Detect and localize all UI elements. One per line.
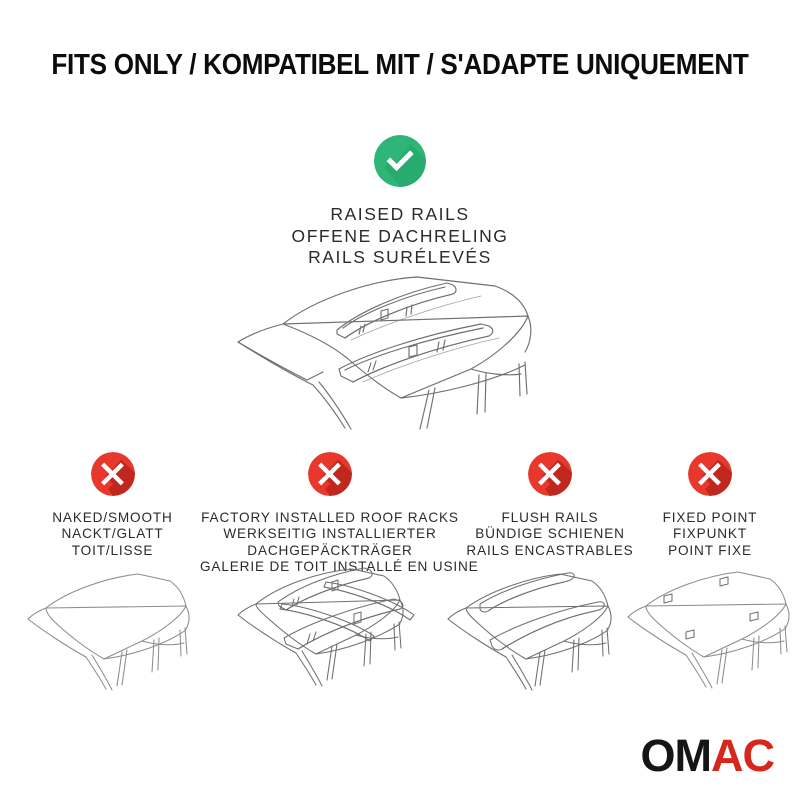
car-roof-with-raised-rails-illustration (195, 272, 615, 457)
incompatible-illustrations-row (0, 552, 800, 702)
incompatible-section: NAKED/SMOOTH NACKT/GLATT TOIT/LISSE FACT… (0, 452, 800, 562)
brand-logo-accent-part: AC (711, 730, 774, 781)
fitment-infographic-page: { "header": { "title": "FITS ONLY / KOMP… (0, 0, 800, 800)
incompatible-item-naked-smooth: NAKED/SMOOTH NACKT/GLATT TOIT/LISSE (10, 452, 215, 559)
compatible-label-fr: RAILS SURÉLEVÉS (0, 247, 800, 269)
page-title-band: FITS ONLY / KOMPATIBEL MIT / S'ADAPTE UN… (0, 48, 800, 82)
incompatible-label-line2: BÜNDIGE SCHIENEN (452, 526, 648, 542)
incompatible-label-line1: NAKED/SMOOTH (10, 510, 215, 526)
car-roof-naked-smooth-illustration (8, 562, 208, 712)
incompatible-label-line2: NACKT/GLATT (10, 526, 215, 542)
brand-logo: OMAC (641, 733, 775, 778)
check-circle-icon (374, 135, 426, 187)
incompatible-label-line1: FLUSH RAILS (452, 510, 648, 526)
incompatible-label-line2: WERKSEITIG INSTALLIERTER (200, 526, 460, 542)
car-roof-factory-roof-rack-illustration (222, 552, 422, 702)
compatible-label-de: OFFENE DACHRELING (0, 226, 800, 248)
page-title: FITS ONLY / KOMPATIBEL MIT / S'ADAPTE UN… (51, 48, 748, 82)
x-circle-icon (688, 452, 732, 496)
incompatible-item-flush-rails: FLUSH RAILS BÜNDIGE SCHIENEN RAILS ENCAS… (452, 452, 648, 559)
incompatible-label-line2: FIXPUNKT (622, 526, 798, 542)
incompatible-label-line1: FACTORY INSTALLED ROOF RACKS (200, 510, 460, 526)
x-circle-icon (528, 452, 572, 496)
brand-logo-dark-part: OM (641, 730, 712, 781)
incompatible-label-line1: FIXED POINT (622, 510, 798, 526)
x-circle-icon (91, 452, 135, 496)
incompatible-item-fixed-point: FIXED POINT FIXPUNKT POINT FIXE (622, 452, 798, 559)
x-circle-icon (308, 452, 352, 496)
compatible-label-en: RAISED RAILS (0, 204, 800, 226)
car-roof-fixed-point-illustration (608, 560, 800, 710)
car-roof-flush-rails-illustration (432, 560, 632, 710)
compatible-section: RAISED RAILS OFFENE DACHRELING RAILS SUR… (0, 135, 800, 269)
compatible-label-stack: RAISED RAILS OFFENE DACHRELING RAILS SUR… (0, 204, 800, 269)
